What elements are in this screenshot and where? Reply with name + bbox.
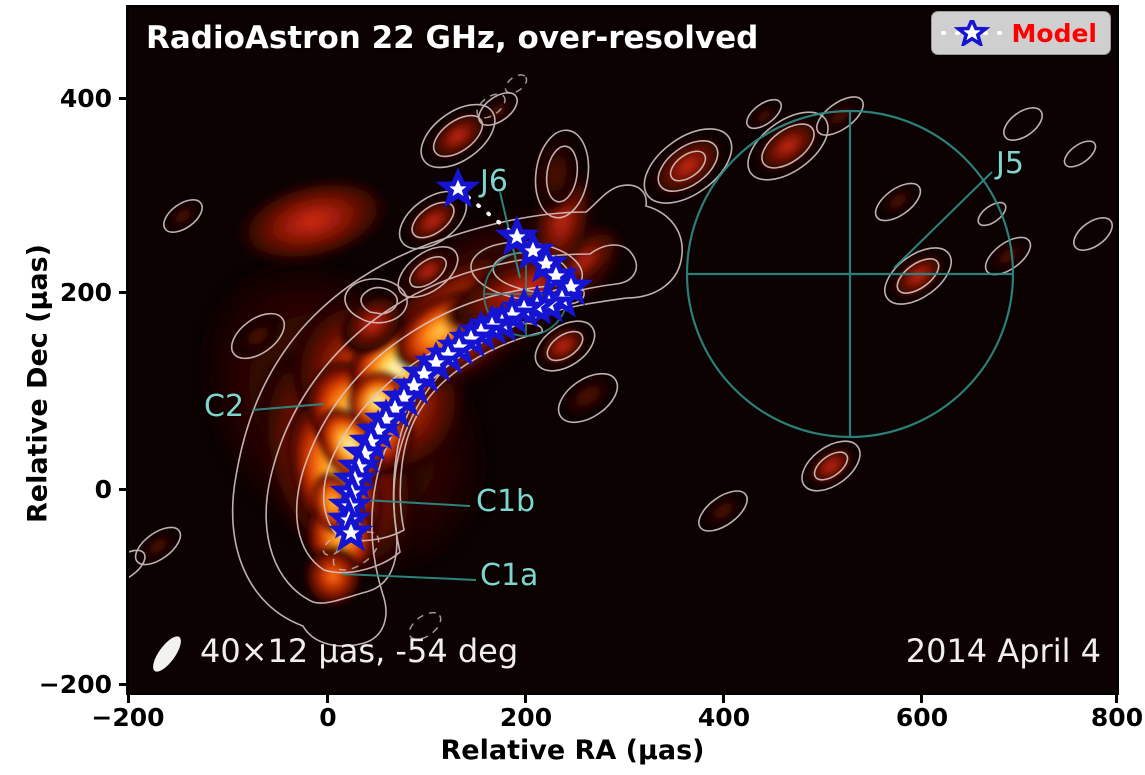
legend-marker-sample bbox=[941, 20, 1003, 46]
xtick-label-800: 800 bbox=[1057, 703, 1145, 732]
xtick-label-600: 600 bbox=[862, 703, 982, 732]
observation-date-label: 2014 April 4 bbox=[906, 632, 1101, 670]
legend-label-model: Model bbox=[1012, 19, 1097, 48]
axis-spine-bottom bbox=[126, 692, 1119, 695]
annotation-label-C1b: C1b bbox=[476, 484, 535, 519]
radio-image-figure: 400 200 0 −200 −200 0 200 400 600 800 Re… bbox=[0, 0, 1145, 775]
beam-size-label: 40×12 μas, -54 deg bbox=[200, 632, 518, 670]
ytick-label-minus200: −200 bbox=[8, 670, 112, 699]
xtick-mark-600 bbox=[920, 694, 923, 703]
xtick-mark-200 bbox=[524, 694, 527, 703]
radio-intensity-map bbox=[128, 6, 1117, 694]
annotation-label-C1a: C1a bbox=[480, 558, 538, 593]
xtick-mark-400 bbox=[722, 694, 725, 703]
xtick-mark-800 bbox=[1115, 694, 1118, 703]
x-axis-label: Relative RA (μas) bbox=[0, 735, 1145, 766]
axis-spine-left bbox=[126, 5, 129, 695]
axis-spine-right bbox=[1116, 5, 1119, 695]
legend-box[interactable]: Model bbox=[931, 11, 1111, 55]
annotation-label-J6: J6 bbox=[480, 164, 508, 199]
annotation-label-C2: C2 bbox=[204, 389, 244, 424]
annotation-label-J5: J5 bbox=[996, 146, 1024, 181]
image-plot-area: RadioAstron 22 GHz, over-resolved J6 J5 … bbox=[128, 6, 1117, 694]
xtick-label-400: 400 bbox=[664, 703, 784, 732]
xtick-label-minus200: −200 bbox=[68, 703, 188, 732]
axis-spine-top bbox=[126, 5, 1119, 8]
xtick-label-200: 200 bbox=[466, 703, 586, 732]
xtick-mark-0 bbox=[326, 694, 329, 703]
y-axis-label: Relative Dec (μas) bbox=[23, 184, 54, 584]
ytick-label-400: 400 bbox=[8, 84, 112, 113]
xtick-mark-minus200 bbox=[127, 694, 130, 703]
plot-title: RadioAstron 22 GHz, over-resolved bbox=[146, 20, 758, 56]
xtick-label-0: 0 bbox=[268, 703, 388, 732]
